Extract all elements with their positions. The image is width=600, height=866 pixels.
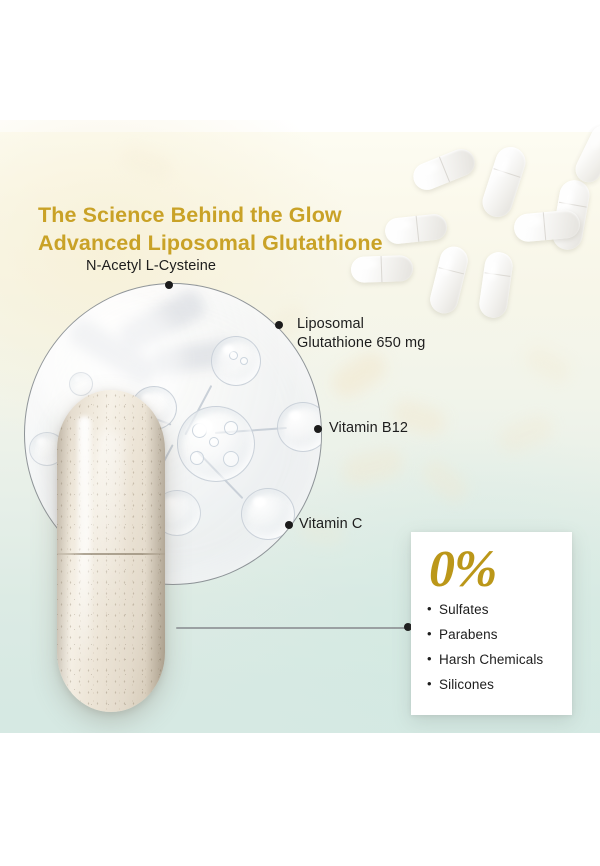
list-item: Parabens [427, 627, 564, 642]
micro-dot [223, 451, 239, 467]
capsule [479, 143, 530, 221]
list-item: Sulfates [427, 602, 564, 617]
capsule [427, 244, 471, 317]
scattered-capsules [415, 128, 600, 358]
capsule-soft-highlight [97, 430, 123, 620]
list-item: Silicones [427, 677, 564, 692]
micro-dot [192, 423, 207, 438]
capsule-highlight [78, 416, 91, 666]
list-item: Harsh Chemicals [427, 652, 564, 667]
callout-label-liposomal-glutathione: Liposomal Glutathione 650 mg [297, 315, 425, 352]
capsule-seam [57, 553, 165, 555]
molecule-satellite-bubble [241, 488, 295, 540]
callout-dot-vitamin-c [285, 521, 293, 529]
top-white-band [0, 0, 600, 132]
callout-label-vitamin-b12: Vitamin B12 [329, 419, 408, 438]
page-title: The Science Behind the Glow Advanced Lip… [38, 172, 383, 286]
callout-dot-liposomal-glutathione [275, 321, 283, 329]
leader-line-free-from [176, 627, 408, 629]
product-capsule [57, 390, 165, 712]
title-line-2: Advanced Liposomal Glutathione [38, 229, 383, 258]
free-from-card: 0% Sulfates Parabens Harsh Chemicals Sil… [411, 532, 572, 715]
micro-dot [229, 351, 238, 360]
bottom-white-band [0, 733, 600, 866]
capsule [409, 145, 478, 194]
zero-percent-value: 0% [429, 540, 496, 599]
capsule [478, 250, 515, 319]
micro-dot [190, 451, 204, 465]
callout-label-vitamin-c: Vitamin C [299, 515, 363, 534]
infographic-stage: The Science Behind the Glow Advanced Lip… [0, 0, 600, 866]
capsule [384, 213, 448, 245]
title-line-1: The Science Behind the Glow [38, 203, 342, 227]
micro-dot [209, 437, 219, 447]
micro-dot [240, 357, 248, 365]
capsule-left-shading [57, 390, 71, 712]
capsule-right-shading [145, 390, 165, 712]
free-from-list: Sulfates Parabens Harsh Chemicals Silico… [427, 602, 564, 702]
callout-dot-vitamin-b12 [314, 425, 322, 433]
molecule-satellite-bubble [211, 336, 261, 386]
micro-dot [224, 421, 238, 435]
molecule-core-bubble [177, 406, 255, 482]
capsule [571, 121, 600, 186]
